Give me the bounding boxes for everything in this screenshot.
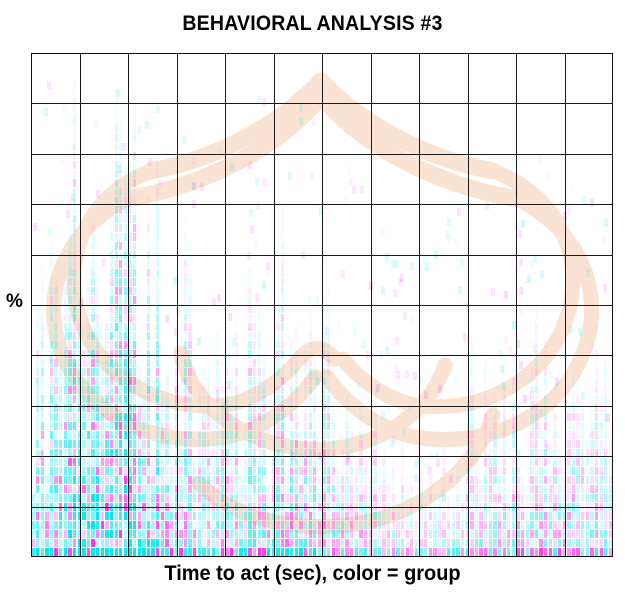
bar-outlier bbox=[403, 312, 407, 320]
bar-segment bbox=[345, 413, 348, 421]
bar-segment bbox=[50, 485, 53, 493]
bar-segment bbox=[530, 404, 533, 412]
bar-segment bbox=[119, 134, 122, 142]
bar-segment bbox=[336, 521, 339, 529]
bar-outlier bbox=[60, 199, 64, 207]
bar-segment bbox=[295, 359, 298, 367]
bar-segment bbox=[433, 494, 436, 502]
bar-segment bbox=[258, 530, 261, 538]
bar-segment bbox=[101, 449, 104, 457]
bar-segment bbox=[73, 251, 76, 259]
bar-segment bbox=[151, 548, 154, 556]
bar-segment bbox=[54, 494, 57, 502]
bar-segment bbox=[336, 503, 339, 511]
bar-segment bbox=[54, 539, 57, 547]
bar-segment bbox=[503, 422, 506, 430]
bar-segment bbox=[124, 152, 127, 160]
bar-segment bbox=[309, 530, 312, 538]
bar-outlier bbox=[48, 228, 52, 236]
bar-segment bbox=[221, 449, 224, 457]
bar-segment bbox=[262, 395, 265, 403]
bar-segment bbox=[424, 548, 427, 556]
bar-segment bbox=[128, 539, 131, 547]
bar-segment bbox=[119, 431, 122, 439]
bar-segment bbox=[401, 494, 404, 502]
bar-segment bbox=[258, 503, 261, 511]
bar-segment bbox=[73, 287, 76, 295]
bar-segment bbox=[466, 422, 469, 430]
bar-segment bbox=[59, 485, 62, 493]
bar-segment bbox=[36, 449, 39, 457]
bar-segment bbox=[516, 548, 519, 556]
bar-segment bbox=[341, 503, 344, 511]
bar-segment bbox=[54, 287, 57, 295]
bar-segment bbox=[322, 539, 325, 547]
bar-segment bbox=[267, 548, 270, 556]
bar-segment bbox=[115, 413, 118, 421]
bar-segment bbox=[313, 539, 316, 547]
bar-segment bbox=[595, 521, 598, 529]
bar-segment bbox=[475, 539, 478, 547]
bar-segment bbox=[124, 260, 127, 268]
bar-segment bbox=[170, 539, 173, 547]
bar-segment bbox=[253, 476, 256, 484]
bar-segment bbox=[489, 458, 492, 466]
bar-segment bbox=[96, 368, 99, 376]
bar-segment bbox=[396, 548, 399, 556]
bar-segment bbox=[272, 539, 275, 547]
bar-segment bbox=[299, 521, 302, 529]
bar-segment bbox=[36, 332, 39, 340]
bar-segment bbox=[595, 359, 598, 367]
bar-segment bbox=[198, 440, 201, 448]
bar-segment bbox=[479, 512, 482, 520]
bar-segment bbox=[101, 431, 104, 439]
bar-outlier bbox=[460, 257, 464, 265]
bar-segment bbox=[359, 422, 362, 430]
bar-segment bbox=[50, 260, 53, 268]
bar-segment bbox=[119, 206, 122, 214]
bar-segment bbox=[105, 395, 108, 403]
bar-segment bbox=[161, 539, 164, 547]
bar-segment bbox=[322, 359, 325, 367]
bar-segment bbox=[175, 323, 178, 331]
bar-segment bbox=[248, 485, 251, 493]
bar-segment bbox=[581, 413, 584, 421]
bar-segment bbox=[133, 269, 136, 277]
bar-segment bbox=[475, 548, 478, 556]
bar-outlier bbox=[250, 225, 254, 233]
bar-outlier bbox=[435, 451, 439, 459]
bar-segment bbox=[406, 503, 409, 511]
bar-segment bbox=[447, 512, 450, 520]
bar-segment bbox=[202, 485, 205, 493]
bar-segment bbox=[299, 548, 302, 556]
bar-segment bbox=[281, 305, 284, 313]
bar-segment bbox=[253, 341, 256, 349]
bar-segment bbox=[401, 530, 404, 538]
bar-segment bbox=[281, 278, 284, 286]
bar-segment bbox=[179, 521, 182, 529]
bar-outlier bbox=[67, 434, 71, 442]
bar-outlier bbox=[61, 156, 65, 164]
bar-segment bbox=[161, 449, 164, 457]
bar-segment bbox=[567, 386, 570, 394]
bar-segment bbox=[244, 431, 247, 439]
bar-segment bbox=[119, 395, 122, 403]
bar-segment bbox=[87, 449, 90, 457]
bar-segment bbox=[521, 494, 524, 502]
bar-segment bbox=[535, 512, 538, 520]
bar-segment bbox=[115, 143, 118, 151]
bar-segment bbox=[147, 233, 150, 241]
bar-segment bbox=[82, 359, 85, 367]
bar-segment bbox=[309, 422, 312, 430]
bar-segment bbox=[484, 395, 487, 403]
bar-segment bbox=[248, 341, 251, 349]
bar-segment bbox=[119, 170, 122, 178]
bar-segment bbox=[392, 458, 395, 466]
bar-segment bbox=[119, 440, 122, 448]
bar-segment bbox=[281, 449, 284, 457]
bar-segment bbox=[327, 332, 330, 340]
bar-segment bbox=[41, 395, 44, 403]
bar-segment bbox=[96, 440, 99, 448]
bar-segment bbox=[276, 440, 279, 448]
bar-segment bbox=[433, 530, 436, 538]
bar-segment bbox=[442, 467, 445, 475]
bar-segment bbox=[248, 323, 251, 331]
bar-segment bbox=[87, 386, 90, 394]
bar-outlier bbox=[550, 485, 554, 493]
bar-segment bbox=[82, 332, 85, 340]
bar-segment bbox=[142, 449, 145, 457]
bar-segment bbox=[68, 314, 71, 322]
bar-segment bbox=[609, 503, 612, 511]
bar-segment bbox=[493, 485, 496, 493]
bar-segment bbox=[175, 458, 178, 466]
bar-segment bbox=[290, 485, 293, 493]
bar-segment bbox=[110, 323, 113, 331]
bar-segment bbox=[184, 386, 187, 394]
bar-segment bbox=[225, 377, 228, 385]
bar-segment bbox=[406, 512, 409, 520]
bar-segment bbox=[410, 485, 413, 493]
bar-segment bbox=[221, 494, 224, 502]
bar-segment bbox=[290, 395, 293, 403]
bar-segment bbox=[290, 548, 293, 556]
bar-outlier bbox=[317, 452, 321, 460]
bar-segment bbox=[327, 521, 330, 529]
bar-segment bbox=[91, 548, 94, 556]
bar-segment bbox=[595, 368, 598, 376]
bar-segment bbox=[299, 494, 302, 502]
bar-segment bbox=[322, 314, 325, 322]
bar-segment bbox=[290, 404, 293, 412]
bar-segment bbox=[295, 530, 298, 538]
bar-segment bbox=[429, 485, 432, 493]
bar-segment bbox=[581, 521, 584, 529]
bar-segment bbox=[475, 440, 478, 448]
bar-outlier bbox=[568, 220, 572, 228]
bar-segment bbox=[235, 413, 238, 421]
bar-segment bbox=[341, 539, 344, 547]
bar-segment bbox=[73, 332, 76, 340]
bar-segment bbox=[91, 449, 94, 457]
bar-segment bbox=[595, 476, 598, 484]
bar-segment bbox=[73, 539, 76, 547]
bar-segment bbox=[45, 476, 48, 484]
bar-segment bbox=[156, 449, 159, 457]
bar-segment bbox=[147, 521, 150, 529]
bar-outlier bbox=[63, 103, 67, 111]
bar-segment bbox=[572, 404, 575, 412]
bar-segment bbox=[124, 143, 127, 151]
bar-segment bbox=[364, 512, 367, 520]
bar-segment bbox=[387, 521, 390, 529]
bar-segment bbox=[115, 215, 118, 223]
bar-segment bbox=[54, 314, 57, 322]
bar-segment bbox=[248, 359, 251, 367]
bar-segment bbox=[512, 548, 515, 556]
bar-segment bbox=[110, 530, 113, 538]
bar-outlier bbox=[247, 252, 251, 260]
bar-segment bbox=[179, 512, 182, 520]
bar-segment bbox=[216, 476, 219, 484]
bar-segment bbox=[272, 521, 275, 529]
bar-segment bbox=[549, 512, 552, 520]
bar-segment bbox=[151, 503, 154, 511]
bar-segment bbox=[188, 431, 191, 439]
bar-segment bbox=[433, 548, 436, 556]
bar-outlier bbox=[183, 136, 187, 144]
bar-outlier bbox=[54, 287, 58, 295]
bar-outlier bbox=[591, 428, 595, 436]
bar-segment bbox=[184, 305, 187, 313]
bar-segment bbox=[230, 377, 233, 385]
bar-segment bbox=[133, 467, 136, 475]
bar-segment bbox=[207, 368, 210, 376]
bar-segment bbox=[410, 512, 413, 520]
bar-segment bbox=[295, 386, 298, 394]
bar-segment bbox=[156, 521, 159, 529]
bar-segment bbox=[456, 494, 459, 502]
bar-outlier bbox=[156, 441, 160, 449]
bar-segment bbox=[285, 530, 288, 538]
bar-segment bbox=[262, 512, 265, 520]
bar-segment bbox=[216, 548, 219, 556]
bar-segment bbox=[535, 467, 538, 475]
bar-segment bbox=[369, 539, 372, 547]
bar-segment bbox=[235, 323, 238, 331]
bar-segment bbox=[401, 539, 404, 547]
bar-segment bbox=[124, 305, 127, 313]
bar-segment bbox=[244, 422, 247, 430]
bar-segment bbox=[184, 359, 187, 367]
bar-segment bbox=[156, 197, 159, 205]
bar-segment bbox=[304, 548, 307, 556]
bar-segment bbox=[124, 278, 127, 286]
bar-segment bbox=[345, 422, 348, 430]
bar-segment bbox=[73, 368, 76, 376]
bar-segment bbox=[119, 116, 122, 124]
bar-segment bbox=[424, 503, 427, 511]
bar-segment bbox=[230, 530, 233, 538]
bar-segment bbox=[382, 476, 385, 484]
bar-segment bbox=[276, 530, 279, 538]
bar-segment bbox=[590, 458, 593, 466]
bar-segment bbox=[165, 458, 168, 466]
bar-segment bbox=[91, 332, 94, 340]
bar-segment bbox=[73, 278, 76, 286]
bar-segment bbox=[91, 260, 94, 268]
bar-segment bbox=[133, 431, 136, 439]
bar-segment bbox=[216, 332, 219, 340]
bar-segment bbox=[124, 485, 127, 493]
bar-segment bbox=[128, 431, 131, 439]
bar-segment bbox=[276, 368, 279, 376]
bar-outlier bbox=[130, 317, 134, 325]
bar-segment bbox=[392, 539, 395, 547]
bar-segment bbox=[530, 377, 533, 385]
bar-segment bbox=[161, 458, 164, 466]
bar-segment bbox=[235, 476, 238, 484]
bar-segment bbox=[119, 242, 122, 250]
bar-segment bbox=[313, 440, 316, 448]
bar-segment bbox=[198, 449, 201, 457]
bar-segment bbox=[73, 476, 76, 484]
bar-outlier bbox=[369, 282, 373, 290]
bar-segment bbox=[507, 548, 510, 556]
bar-outlier bbox=[150, 265, 154, 273]
bar-segment bbox=[558, 539, 561, 547]
bar-segment bbox=[304, 539, 307, 547]
bar-segment bbox=[327, 458, 330, 466]
bar-segment bbox=[563, 548, 566, 556]
bar-segment bbox=[530, 485, 533, 493]
bar-segment bbox=[202, 422, 205, 430]
bar-segment bbox=[188, 260, 191, 268]
bar-segment bbox=[530, 494, 533, 502]
bar-segment bbox=[369, 476, 372, 484]
bar-segment bbox=[290, 530, 293, 538]
bar-segment bbox=[295, 458, 298, 466]
bar-segment bbox=[207, 359, 210, 367]
bar-segment bbox=[355, 449, 358, 457]
bar-outlier bbox=[315, 297, 319, 305]
bar-outlier bbox=[415, 459, 419, 467]
bar-segment bbox=[156, 512, 159, 520]
bar-segment bbox=[493, 395, 496, 403]
bar-segment bbox=[115, 197, 118, 205]
bar-outlier bbox=[69, 268, 73, 276]
bar-segment bbox=[133, 539, 136, 547]
bar-segment bbox=[586, 440, 589, 448]
bar-segment bbox=[156, 476, 159, 484]
bar-segment bbox=[87, 485, 90, 493]
bar-segment bbox=[567, 548, 570, 556]
bar-segment bbox=[258, 440, 261, 448]
bar-segment bbox=[124, 521, 127, 529]
bar-segment bbox=[64, 314, 67, 322]
watermark-stroke bbox=[415, 171, 573, 407]
bar-segment bbox=[475, 512, 478, 520]
bar-segment bbox=[175, 395, 178, 403]
bar-segment bbox=[489, 413, 492, 421]
bar-segment bbox=[68, 332, 71, 340]
plot-area[interactable] bbox=[31, 53, 613, 557]
bar-segment bbox=[73, 215, 76, 223]
bar-segment bbox=[406, 485, 409, 493]
bar-segment bbox=[64, 368, 67, 376]
bar-segment bbox=[442, 530, 445, 538]
bar-segment bbox=[119, 269, 122, 277]
bar-segment bbox=[484, 368, 487, 376]
bar-segment bbox=[193, 440, 196, 448]
bar-segment bbox=[253, 395, 256, 403]
bar-outlier bbox=[121, 143, 125, 151]
bar-segment bbox=[466, 539, 469, 547]
bar-segment bbox=[198, 413, 201, 421]
bar-segment bbox=[438, 521, 441, 529]
bar-segment bbox=[470, 512, 473, 520]
bar-segment bbox=[299, 440, 302, 448]
bar-segment bbox=[119, 296, 122, 304]
bar-segment bbox=[586, 521, 589, 529]
bar-segment bbox=[54, 305, 57, 313]
bar-segment bbox=[526, 521, 529, 529]
bar-segment bbox=[544, 341, 547, 349]
bar-segment bbox=[142, 422, 145, 430]
bar-outlier bbox=[117, 165, 121, 173]
bar-segment bbox=[110, 512, 113, 520]
bar-segment bbox=[262, 449, 265, 457]
bar-segment bbox=[64, 395, 67, 403]
bar-segment bbox=[572, 539, 575, 547]
bar-segment bbox=[54, 449, 57, 457]
bar-segment bbox=[572, 458, 575, 466]
bar-segment bbox=[516, 530, 519, 538]
bar-segment bbox=[36, 494, 39, 502]
bar-segment bbox=[78, 395, 81, 403]
bar-segment bbox=[341, 458, 344, 466]
bar-outlier bbox=[530, 261, 534, 269]
bar-segment bbox=[73, 89, 76, 97]
bar-segment bbox=[322, 485, 325, 493]
bar-segment bbox=[156, 251, 159, 259]
bar-segment bbox=[553, 422, 556, 430]
bar-segment bbox=[235, 350, 238, 358]
bar-segment bbox=[309, 521, 312, 529]
bar-segment bbox=[216, 485, 219, 493]
bar-segment bbox=[101, 458, 104, 466]
bar-segment bbox=[78, 449, 81, 457]
bar-segment bbox=[170, 476, 173, 484]
bar-segment bbox=[447, 539, 450, 547]
bar-segment bbox=[119, 494, 122, 502]
bar-segment bbox=[276, 332, 279, 340]
bar-segment bbox=[156, 377, 159, 385]
bar-segment bbox=[73, 260, 76, 268]
bar-segment bbox=[64, 377, 67, 385]
bar-segment bbox=[133, 368, 136, 376]
bar-segment bbox=[156, 494, 159, 502]
bar-segment bbox=[281, 503, 284, 511]
bar-segment bbox=[304, 386, 307, 394]
bar-segment bbox=[355, 494, 358, 502]
bar-segment bbox=[54, 476, 57, 484]
bar-segment bbox=[512, 359, 515, 367]
